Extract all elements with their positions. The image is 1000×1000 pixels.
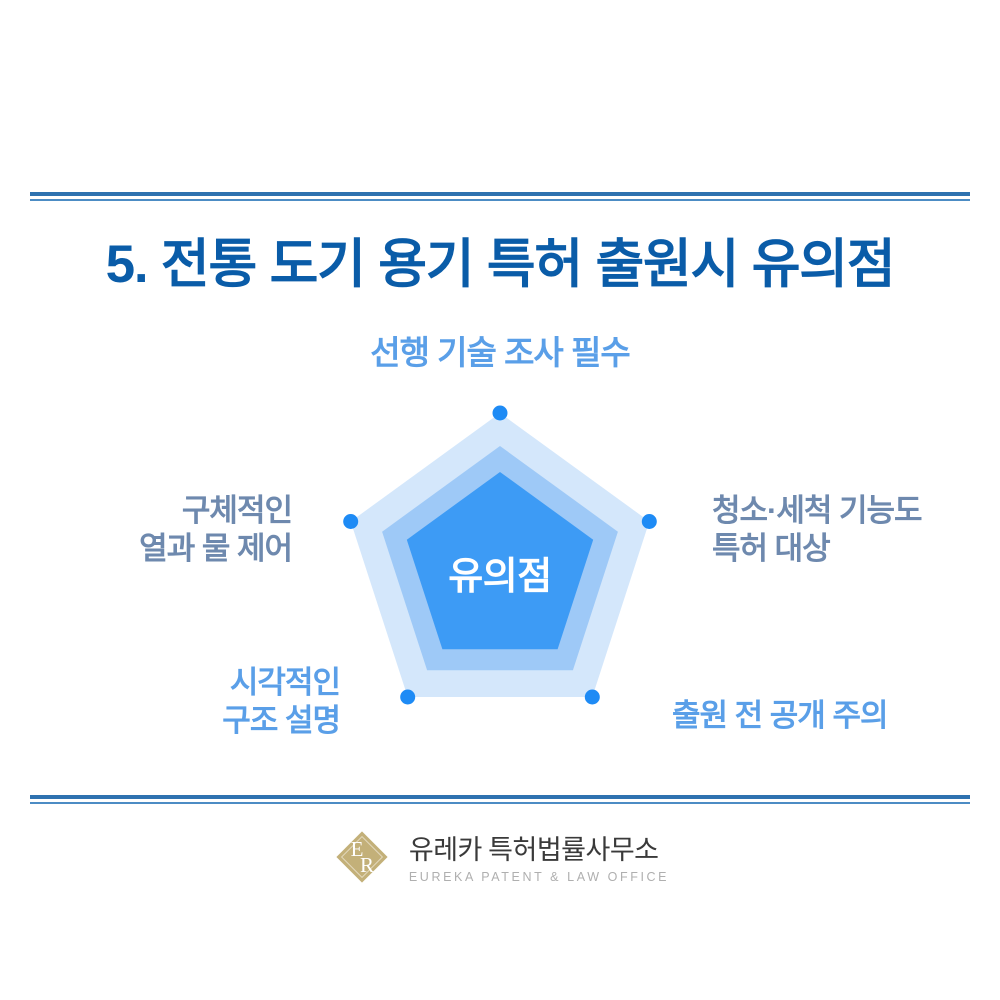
node-label-bottom-right-line1: 출원 전 공개 주의 (672, 697, 887, 735)
logo-company-name: 유레카 특허법률사무소 (409, 828, 659, 867)
node-label-top-line1: 선행 기술 조사 필수 (0, 333, 1000, 374)
divider-top (30, 192, 970, 201)
monogram-letter-r: R (360, 853, 374, 877)
node-label-bottom-left: 시각적인 구조 설명 (0, 664, 340, 741)
divider-bottom-thin-bar (30, 802, 970, 804)
divider-bottom (30, 795, 970, 804)
divider-top-thin-bar (30, 199, 970, 201)
node-label-bottom-right: 출원 전 공개 주의 (672, 697, 887, 735)
slide-root: 5. 전통 도기 용기 특허 출원시 유의점 유의점 선행 기술 조사 필수 청… (0, 0, 1000, 1000)
node-label-right-line1: 청소·세척 기능도 (712, 492, 922, 530)
node-label-right: 청소·세척 기능도 특허 대상 (712, 492, 922, 569)
diamond-icon-svg: E R (331, 826, 393, 888)
logo-tagline: EUREKA PATENT & LAW OFFICE (409, 870, 669, 884)
footer-logo: E R 유레카 특허법률사무소 EUREKA PATENT & LAW OFFI… (0, 826, 1000, 888)
node-label-left: 구체적인 열과 물 제어 (0, 492, 292, 569)
pentagon-vertex-dot-bottom-left (400, 690, 415, 705)
pentagon-vertex-dot-left (343, 514, 358, 529)
diamond-monogram-icon: E R (331, 826, 393, 888)
pentagon-vertex-dot-top (493, 406, 508, 421)
node-label-bottom-left-line1: 시각적인 (0, 664, 340, 702)
node-label-right-line2: 특허 대상 (712, 530, 922, 568)
node-label-top: 선행 기술 조사 필수 (0, 333, 1000, 374)
node-label-left-line2: 열과 물 제어 (0, 530, 292, 568)
node-label-left-line1: 구체적인 (0, 492, 292, 530)
page-title: 5. 전통 도기 용기 특허 출원시 유의점 (0, 222, 1000, 298)
pentagon-vertex-dot-right (642, 514, 657, 529)
node-label-bottom-left-line2: 구조 설명 (0, 702, 340, 740)
logo-text-block: 유레카 특허법률사무소 EUREKA PATENT & LAW OFFICE (409, 828, 669, 886)
pentagon-vertex-dot-bottom-right (585, 690, 600, 705)
